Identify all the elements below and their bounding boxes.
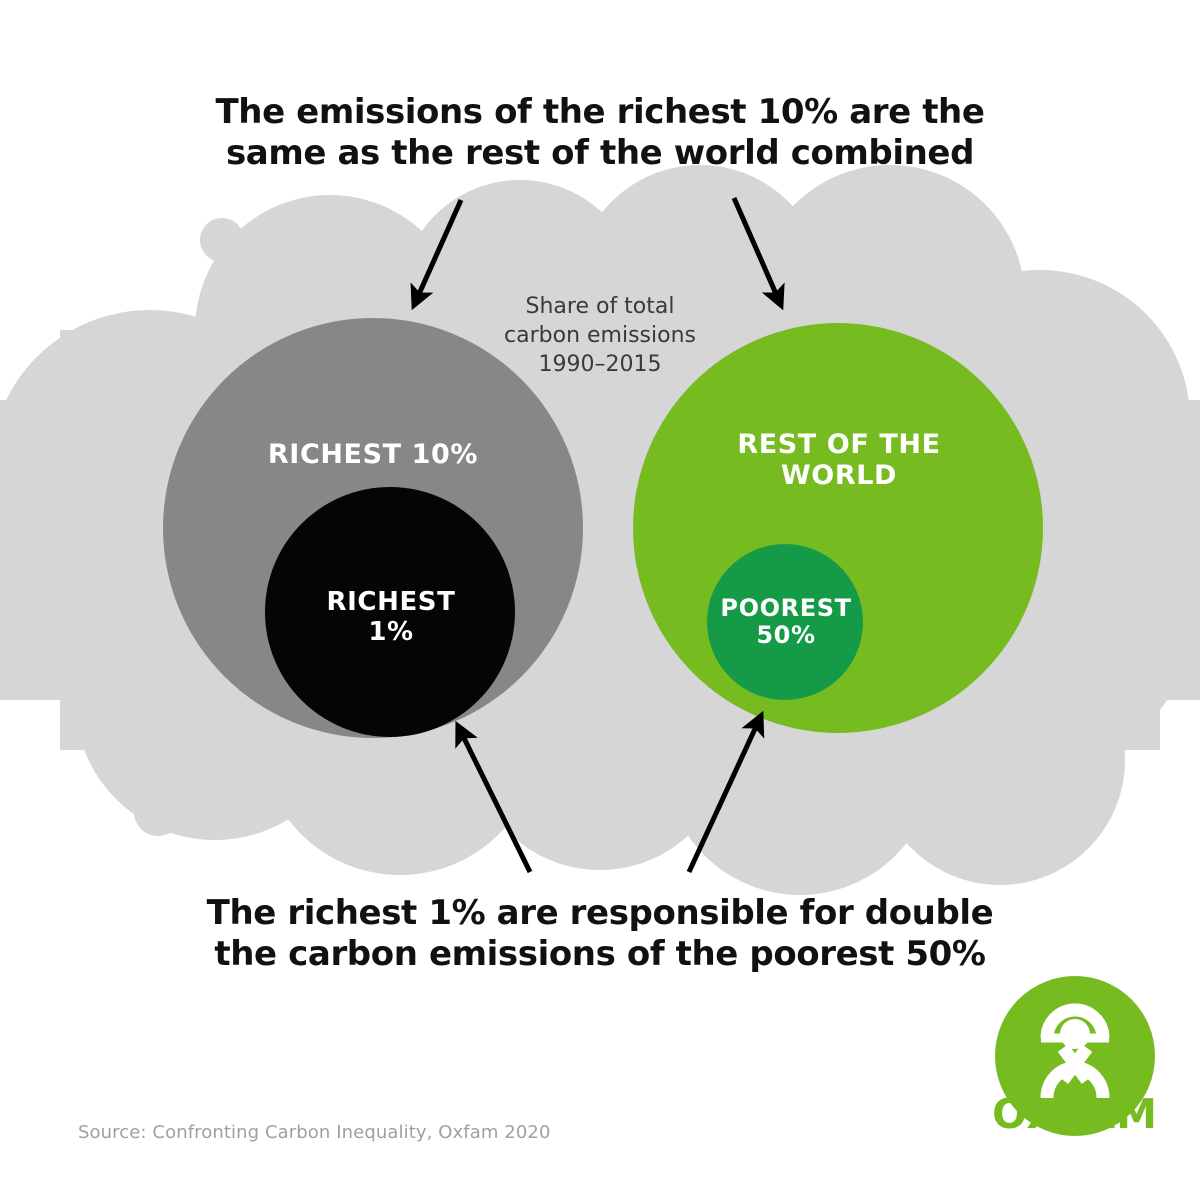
infographic-canvas: The emissions of the richest 10% are the… [0,0,1200,1200]
headline-bottom: The richest 1% are responsible for doubl… [190,893,1010,976]
source-note: Source: Confronting Carbon Inequality, O… [78,1122,551,1143]
oxfam-wordmark: OXFAM [985,1090,1165,1138]
caption-line-1: Share of total [490,292,710,321]
caption-line-3: 1990–2015 [490,350,710,379]
arrow-bottom-left-icon [459,728,530,872]
caption-line-2: carbon emissions [490,321,710,350]
headline-top: The emissions of the richest 10% are the… [200,92,1000,175]
chart-caption: Share of total carbon emissions 1990–201… [490,292,710,379]
arrow-top-right-icon [734,198,780,303]
arrow-bottom-right-icon [689,718,760,872]
arrow-top-left-icon [415,200,461,303]
